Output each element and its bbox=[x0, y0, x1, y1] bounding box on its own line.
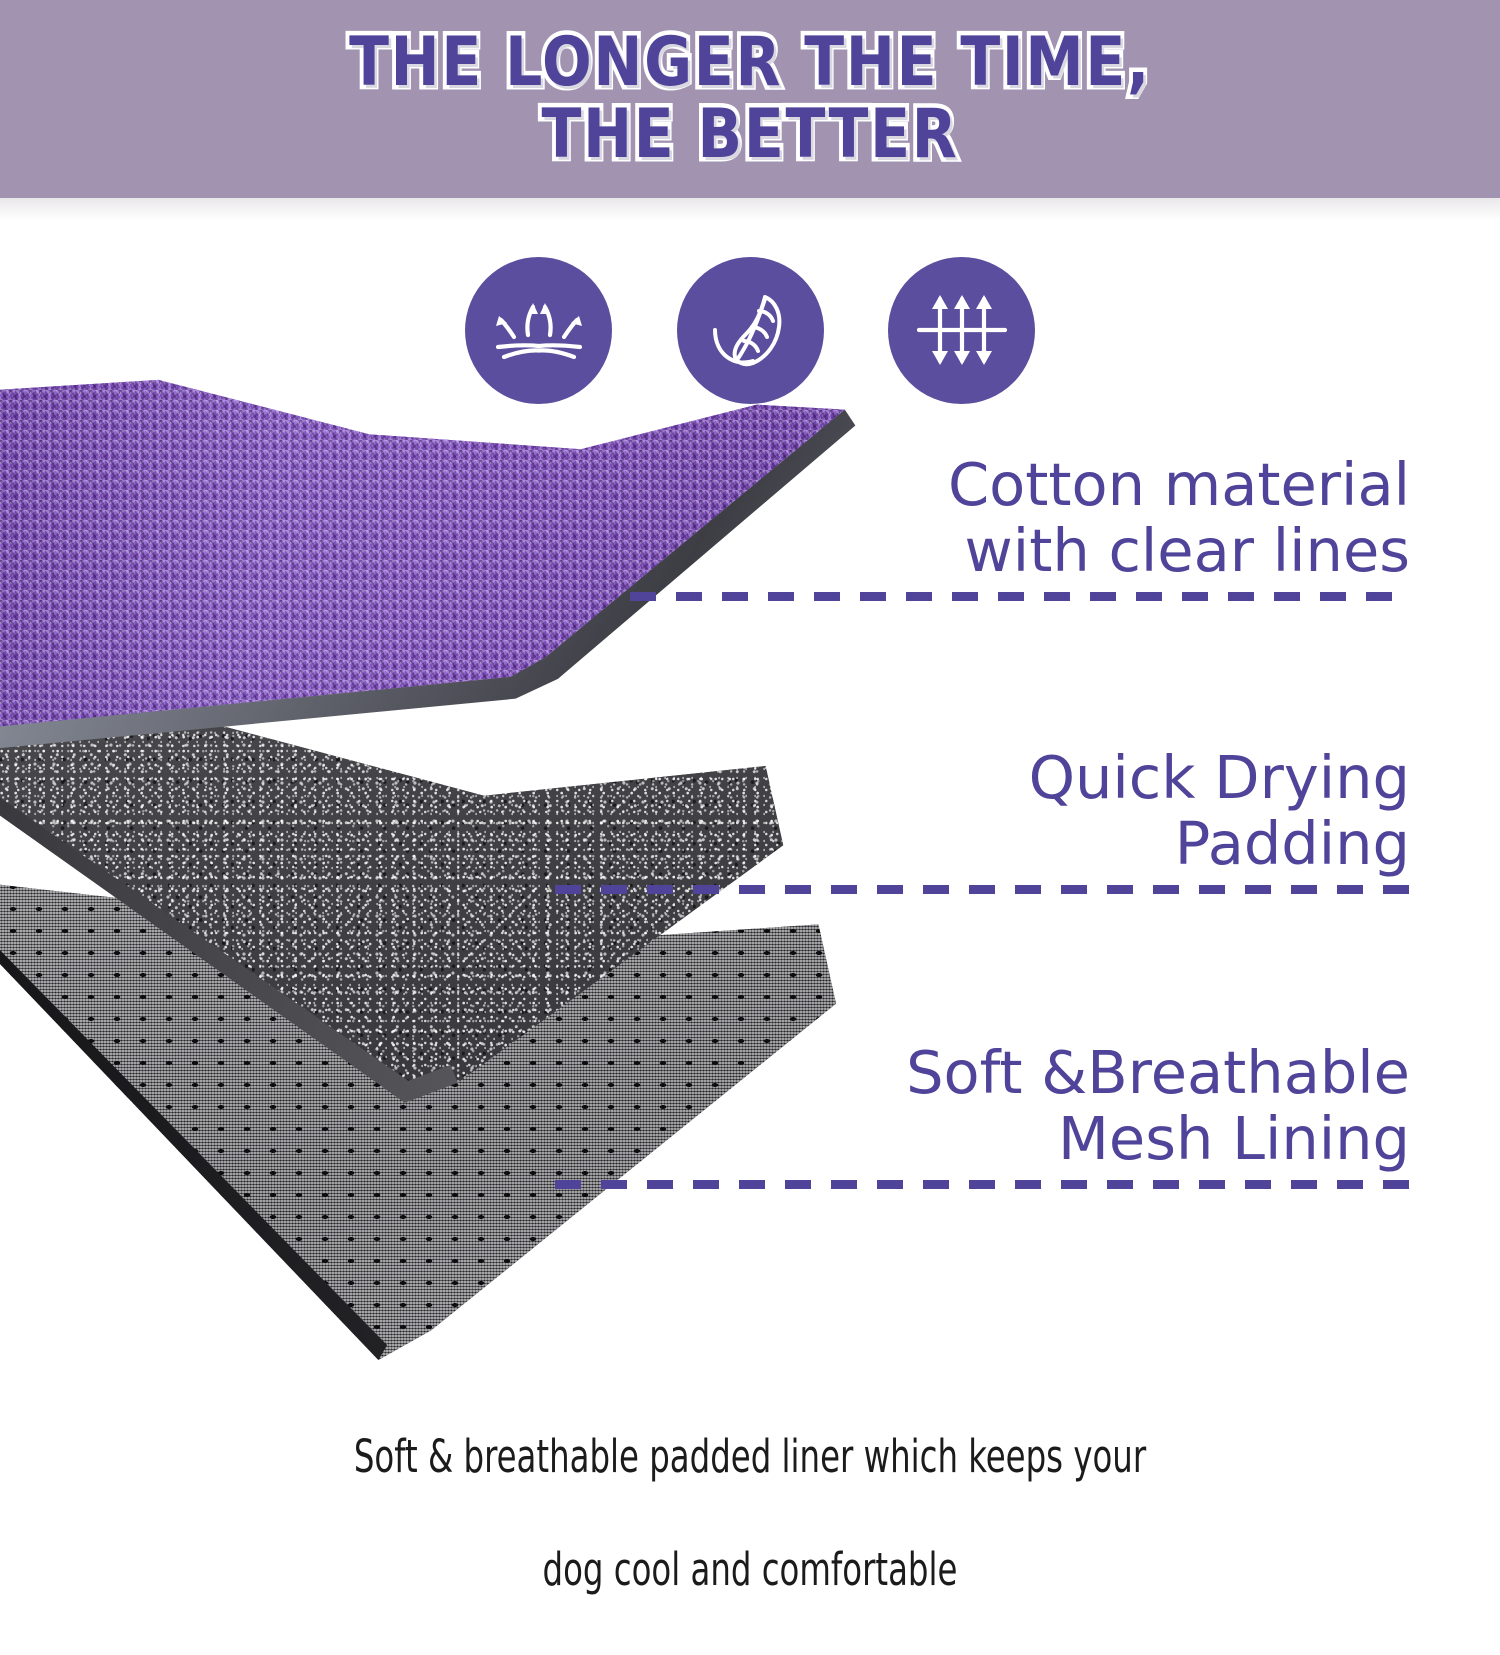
leader-line-mesh bbox=[555, 1180, 1412, 1189]
feature-label-padding-line-1: Quick Drying bbox=[700, 745, 1410, 811]
air-permeability-icon bbox=[888, 257, 1035, 404]
feature-label-mesh: Soft &Breathable Mesh Lining bbox=[700, 1040, 1410, 1172]
feature-label-padding: Quick Drying Padding bbox=[700, 745, 1410, 877]
leader-line-padding bbox=[555, 885, 1412, 894]
banner-bottom-shadow bbox=[0, 198, 1500, 220]
bottom-caption-line-1: Soft & breathable padded liner which kee… bbox=[150, 1429, 1350, 1486]
page-title-line-2: THE BETTER bbox=[105, 102, 1395, 168]
bottom-caption: Soft & breathable padded liner which kee… bbox=[150, 1372, 1350, 1655]
page-title-line-1: THE LONGER THE TIME, bbox=[105, 30, 1395, 96]
feature-label-cotton: Cotton material with clear lines bbox=[700, 452, 1410, 584]
feature-label-mesh-line-2: Mesh Lining bbox=[700, 1106, 1410, 1172]
feature-label-mesh-line-1: Soft &Breathable bbox=[700, 1040, 1410, 1106]
bottom-caption-line-2: dog cool and comfortable bbox=[150, 1542, 1350, 1599]
header-banner: THE LONGER THE TIME, THE BETTER bbox=[0, 0, 1500, 198]
leader-line-cotton bbox=[630, 592, 1412, 601]
feature-label-padding-line-2: Padding bbox=[700, 811, 1410, 877]
header-title-block: THE LONGER THE TIME, THE BETTER bbox=[0, 30, 1500, 168]
feature-label-cotton-line-2: with clear lines bbox=[700, 518, 1410, 584]
feature-label-cotton-line-1: Cotton material bbox=[700, 452, 1410, 518]
